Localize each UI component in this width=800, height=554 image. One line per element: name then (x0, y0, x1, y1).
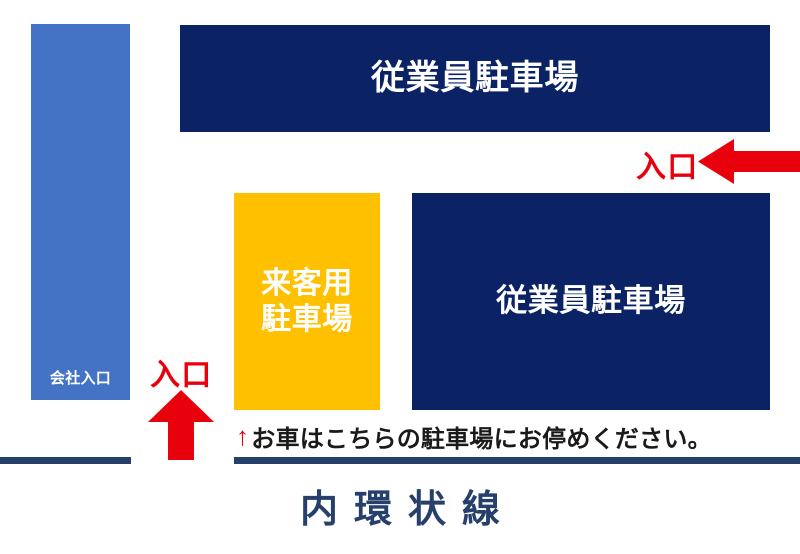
road-name-label: 内環状線 (0, 478, 800, 533)
entrance-label-bottom: 入口 (150, 350, 212, 394)
caption-up-arrow-icon: ↑ (236, 423, 249, 449)
arrow-up-icon (148, 390, 214, 460)
company-entrance-label: 会社入口 (50, 370, 111, 388)
road-line-left-segment (0, 457, 131, 464)
company-entrance-bar: 会社入口 (31, 24, 130, 400)
entrance-label-right: 入口 (636, 142, 698, 186)
parking-lot-map: 会社入口 従業員駐車場 来客用 駐車場 従業員駐車場 入口 入口 ↑ お車はこち… (0, 0, 800, 554)
employee-parking-lot-right: 従業員駐車場 (412, 193, 770, 410)
parking-instruction-text: お車はこちらの駐車場にお停めください。 (251, 419, 712, 454)
employee-parking-lot-top: 従業員駐車場 (180, 25, 770, 132)
employee-parking-top-label: 従業員駐車場 (371, 58, 579, 98)
arrow-left-icon (698, 139, 800, 184)
visitor-parking-label: 来客用 駐車場 (261, 266, 353, 337)
parking-instruction-caption: ↑ お車はこちらの駐車場にお停めください。 (236, 416, 776, 456)
employee-parking-right-label: 従業員駐車場 (496, 283, 686, 320)
road-line-right-segment (234, 457, 800, 464)
visitor-parking-lot: 来客用 駐車場 (234, 193, 380, 410)
